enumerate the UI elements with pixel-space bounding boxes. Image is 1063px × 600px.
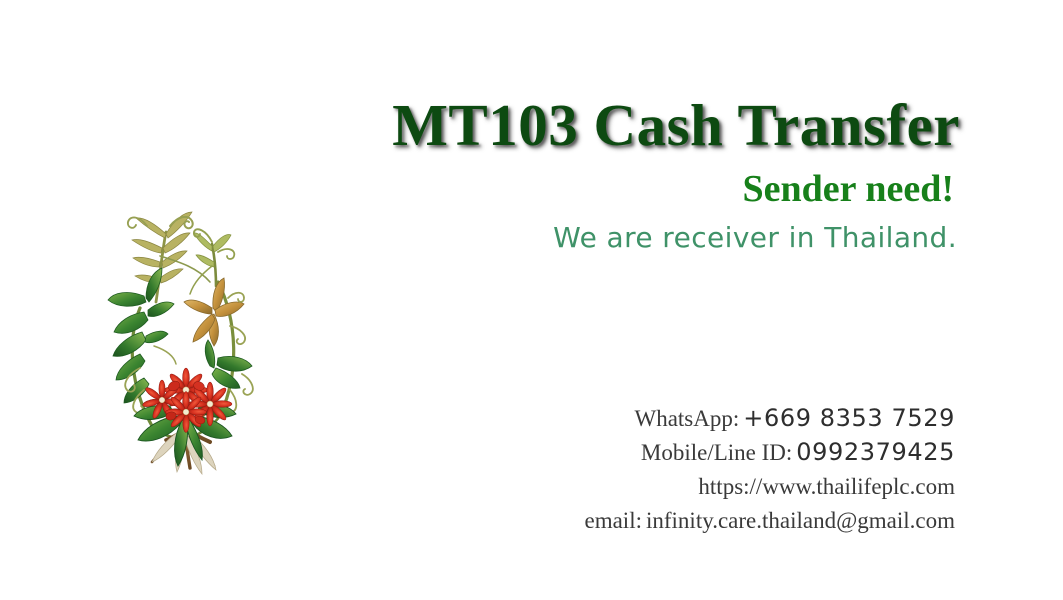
floral-illustration [100, 190, 265, 480]
mobile-line-id-label: Mobile/Line ID: [641, 440, 792, 465]
contact-line-email: email: infinity.care.thailand@gmail.com [520, 505, 955, 539]
contact-line-mobile: Mobile/Line ID: 0992379425 [520, 437, 955, 471]
email-address[interactable]: infinity.care.thailand@gmail.com [646, 508, 955, 533]
page-tagline: We are receiver in Thailand. [260, 224, 957, 252]
contact-line-whatsapp: WhatsApp: +669 8353 7529 [520, 403, 955, 437]
headline-block: MT103 Cash Transfer Sender need! We are … [260, 96, 960, 252]
page-title: MT103 Cash Transfer [260, 96, 960, 155]
contact-block: WhatsApp: +669 8353 7529 Mobile/Line ID:… [520, 403, 955, 539]
whatsapp-label: WhatsApp: [635, 406, 740, 431]
mobile-line-id-number[interactable]: 0992379425 [796, 438, 955, 466]
page-subtitle: Sender need! [260, 170, 954, 208]
website-link[interactable]: https://www.thailifeplc.com [698, 474, 955, 499]
contact-line-website: https://www.thailifeplc.com [520, 471, 955, 505]
email-label: email: [585, 508, 642, 533]
business-card-canvas: MT103 Cash Transfer Sender need! We are … [0, 0, 1063, 600]
whatsapp-number[interactable]: +669 8353 7529 [743, 404, 955, 432]
